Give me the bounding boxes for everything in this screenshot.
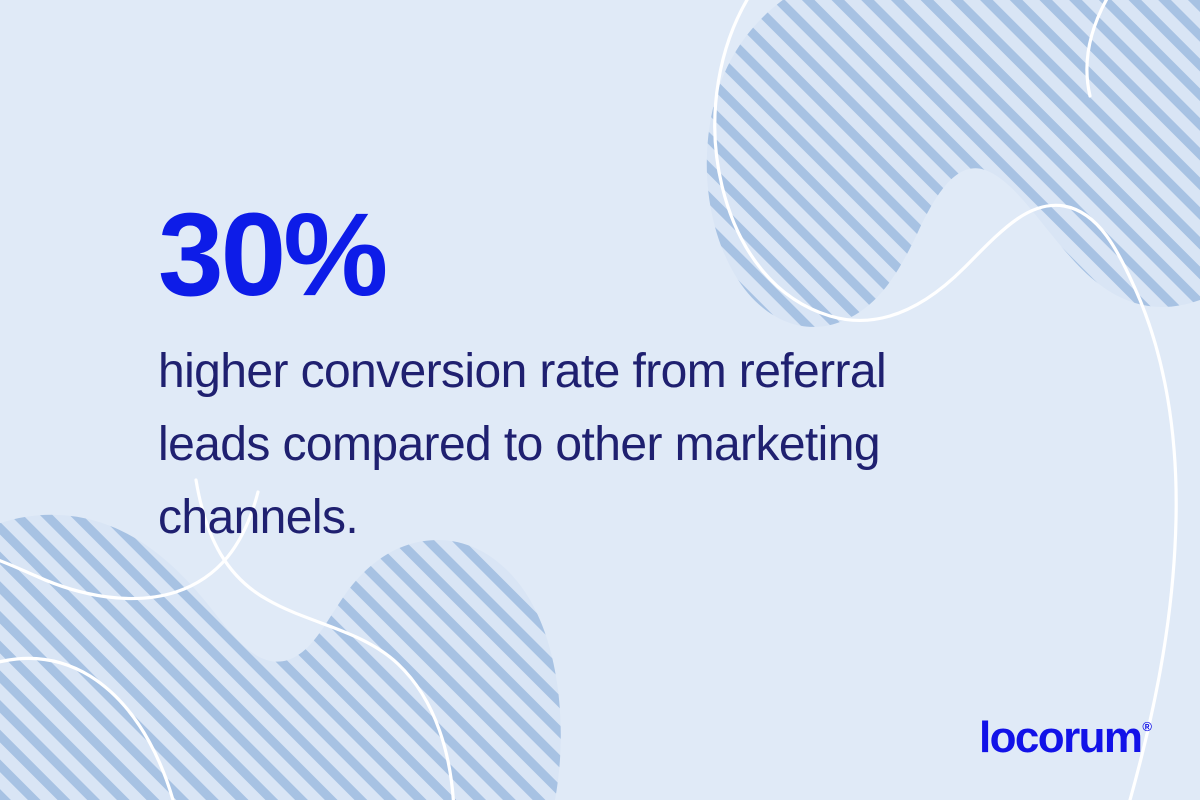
stat-number: 30% bbox=[158, 196, 1058, 314]
stat-description-line-2: leads compared to other marketing bbox=[158, 409, 1038, 482]
logo-wordmark: locorum bbox=[979, 716, 1141, 760]
bottom-left-white-arc bbox=[0, 658, 187, 800]
stat-description-line-3: channels. bbox=[158, 482, 1038, 555]
locorum-logo: locorum ® bbox=[979, 716, 1152, 760]
stat-description: higher conversion rate from referral lea… bbox=[158, 336, 1038, 555]
stat-card: 30% higher conversion rate from referral… bbox=[0, 0, 1200, 800]
stat-description-line-1: higher conversion rate from referral bbox=[158, 336, 1038, 409]
top-right-corner-white-arc bbox=[1087, 0, 1112, 96]
stat-content: 30% higher conversion rate from referral… bbox=[158, 196, 1058, 555]
registered-trademark-icon: ® bbox=[1142, 720, 1152, 733]
